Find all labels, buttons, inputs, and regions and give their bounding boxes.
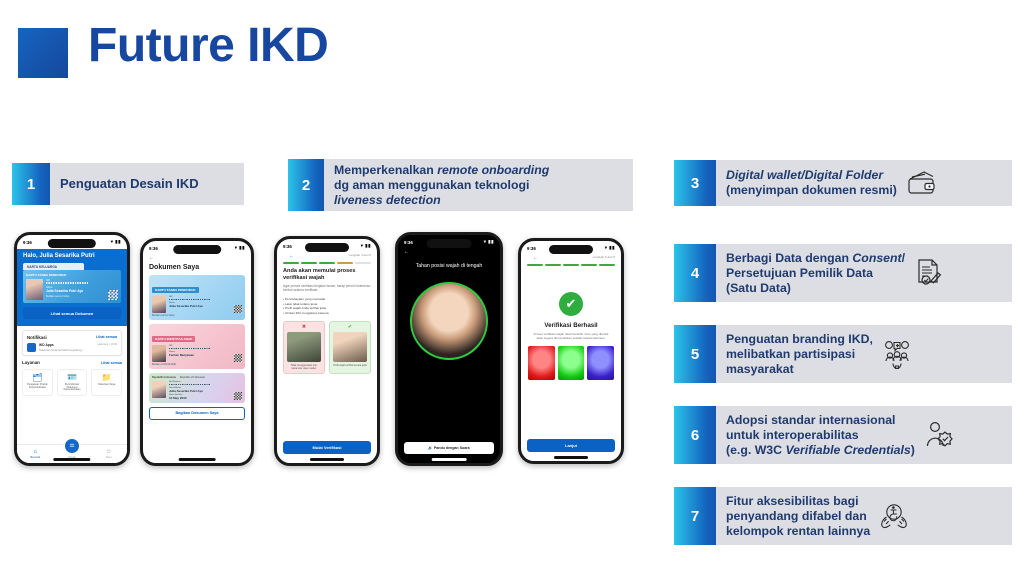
requirement-4: • Izinkan IKD mengakses kamera	[283, 311, 371, 316]
back-button[interactable]: ←	[283, 253, 300, 259]
ktp-card-header: KARTU TANDA PENDUDUK	[26, 273, 118, 277]
speaker-icon: 🔊	[428, 446, 432, 450]
document-card-passport[interactable]: Republik Indonesia Republic of Indonesia…	[149, 373, 245, 403]
step-indicator-label: Langkah 5 dari 5	[593, 255, 615, 261]
status-time: 9:36	[283, 244, 292, 249]
item-number-1: 1	[12, 163, 50, 205]
notification-card: Notifikasi Lihat semua IKD Apps sekarang…	[22, 330, 122, 356]
document-footer-2: Berlaku s/d 26-09-2036	[152, 364, 242, 366]
notification-item-time: sekarang • 10:30	[97, 343, 117, 346]
wallet-icon	[897, 170, 945, 196]
name-value-2: Farhan Mulyawan	[169, 353, 231, 357]
example-comparison: ✖ Tidak menggunakan topi, kacamata, atau…	[283, 321, 371, 374]
document-card-ktp[interactable]: KARTU TANDA PENDUDUK NIK Nama Julia Sesa…	[149, 275, 245, 320]
services-title: Layanan	[22, 360, 40, 365]
item-number-4: 4	[674, 244, 716, 302]
home-icon: ⌂	[17, 449, 54, 455]
service-label-2: Permohonan Dokumen Kependudukan	[60, 384, 85, 393]
step-2	[301, 262, 317, 264]
service-tile-1[interactable]: 🗂 Pengajuan Produk Kependudukan	[22, 369, 53, 396]
feature-item-1: 1 Penguatan Desain IKD	[12, 163, 244, 205]
document-photo-2	[152, 345, 166, 362]
item-text-1: Penguatan Desain IKD	[60, 176, 199, 192]
phone-mockup-verification-success: 9:36 ▾ ▮▮ ← Langkah 5 dari 5 ✔ Verifikas…	[518, 238, 624, 464]
notification-item-subtitle: Selamat! Anda berhasil bergabung ...	[39, 348, 117, 352]
step-5	[599, 264, 615, 266]
phone-mockup-documents: 9:36 ▾ ▮▮ ← Dokumen Saya KARTU TANDA PEN…	[140, 238, 254, 466]
verification-intro-subtitle: Agar proses verifikasi berjalan lancar, …	[277, 284, 377, 293]
documents-page-title: Dokumen Saya	[143, 261, 251, 275]
item-number-5: 5	[674, 325, 716, 383]
notch	[173, 245, 221, 254]
notification-title: Notifikasi	[27, 335, 47, 340]
home-indicator	[179, 458, 216, 460]
step-5	[355, 262, 371, 264]
cross-icon: ✖	[287, 325, 321, 330]
status-icons: ▾ ▮▮	[111, 239, 121, 245]
item-text-7: Fitur aksesibilitas bagipenyandang difab…	[726, 494, 870, 539]
share-documents-button[interactable]: Bagikan Dokumen Saya	[149, 407, 245, 420]
status-icons: ▾ ▮▮	[605, 245, 615, 251]
number-masked-3	[169, 384, 210, 386]
item-body-5: Penguatan branding IKD,melibatkan partis…	[716, 325, 1012, 383]
step-3	[319, 262, 335, 264]
success-title: Verifikasi Berhasil	[521, 322, 621, 329]
thumbnail-red	[528, 346, 555, 380]
bad-example-caption: Tidak menggunakan topi, kacamata, atau m…	[287, 364, 321, 370]
ktp-card[interactable]: KARTU TANDA PENDUDUK NIK Nama Julia Sesa…	[23, 270, 121, 303]
notification-item-title: IKD Apps	[39, 343, 54, 347]
documents-icon: 🗂	[25, 374, 50, 382]
step-2	[545, 264, 561, 266]
kartu-keluarga-tab[interactable]: KARTU KELUARGA	[23, 263, 84, 270]
good-example-photo	[333, 332, 367, 362]
folder-icon: 📁	[94, 374, 119, 382]
item-number-3: 3	[674, 160, 716, 206]
feature-item-7: 7 Fitur aksesibilitas bagipenyandang dif…	[674, 487, 1012, 545]
tab-label-beranda: Beranda	[17, 456, 54, 459]
notch	[549, 245, 593, 254]
document-photo-1	[152, 296, 166, 313]
check-icon: ✔	[333, 325, 367, 330]
notification-item[interactable]: IKD Apps sekarang • 10:30 Selamat! Anda …	[27, 343, 117, 352]
id-card-icon: 🪪	[60, 374, 85, 382]
status-time: 9:36	[23, 240, 32, 245]
document-card-header-3-en: Republic of Indonesia	[180, 376, 205, 379]
home-indicator	[310, 458, 344, 460]
scan-fab-button[interactable]: ⌗	[63, 437, 81, 455]
notification-see-all-link[interactable]: Lihat semua	[96, 335, 117, 339]
voice-guide-label: Pandu dengan Suara	[434, 446, 470, 450]
item-number-6: 6	[674, 406, 716, 464]
qr-code-icon[interactable]	[108, 290, 118, 300]
app-logo-icon	[27, 343, 36, 352]
tab-beranda[interactable]: ⌂ Beranda	[17, 449, 54, 459]
good-example-card: ✔ Profil wajah terlihat secara jelas	[329, 321, 371, 374]
item-body-3: Digital wallet/Digital Folder(menyimpan …	[716, 160, 1012, 206]
step-indicator-label: Langkah 4 dari 5	[349, 253, 371, 259]
document-card-header-3: Republik Indonesia	[152, 376, 176, 379]
home-indicator	[53, 458, 90, 460]
feature-item-5: 5 Penguatan branding IKD,melibatkan part…	[674, 325, 1012, 383]
document-sign-icon	[905, 258, 953, 288]
step-1	[527, 264, 543, 266]
good-example-caption: Profil wajah terlihat secara jelas	[333, 364, 367, 367]
thumbnail-blue	[587, 346, 614, 380]
item-body-1: Penguatan Desain IKD	[50, 163, 244, 205]
qr-code-icon-3[interactable]	[234, 392, 242, 400]
thumbnail-green	[558, 346, 585, 380]
item-number-7: 7	[674, 487, 716, 545]
status-icons: ▾ ▮▮	[361, 243, 371, 249]
face-capture-instruction: Tahan posisi wajah di tengah	[398, 255, 500, 269]
greeting-text: Halo, Julia Sesarika Putri	[23, 253, 121, 259]
nik-masked-1	[169, 299, 210, 301]
document-footer-1: Berlaku seumur hidup	[152, 315, 242, 317]
item-text-6: Adopsi standar internasionaluntuk intero…	[726, 413, 915, 458]
bad-example-photo	[287, 332, 321, 362]
bad-example-card: ✖ Tidak menggunakan topi, kacamata, atau…	[283, 321, 325, 374]
home-indicator	[432, 458, 467, 460]
step-3	[563, 264, 579, 266]
qr-code-icon-2[interactable]	[234, 354, 242, 362]
home-indicator	[554, 456, 588, 458]
item-body-2: Memperkenalkan remote onboardingdg aman …	[324, 159, 633, 211]
nik-masked-2	[169, 348, 210, 350]
service-label-3: Dokumen Saya	[94, 384, 119, 387]
progress-steps	[521, 261, 621, 266]
feature-item-3: 3 Digital wallet/Digital Folder(menyimpa…	[674, 160, 1012, 206]
services-see-all-link[interactable]: Lihat semua	[101, 361, 122, 365]
services-section: Layanan Lihat semua 🗂 Pengajuan Produk K…	[22, 360, 122, 396]
notch	[427, 239, 472, 248]
success-subtitle: Proses verifikasi wajah telah berakhir. …	[521, 329, 621, 341]
tab-akun[interactable]: ☺ Akun	[90, 449, 127, 459]
item-body-4: Berbagi Data dengan Consent/Persetujuan …	[716, 244, 1012, 302]
back-button[interactable]: ←	[527, 255, 544, 261]
status-icons: ▾ ▮▮	[235, 245, 245, 251]
status-time: 9:36	[527, 246, 536, 251]
service-tile-3[interactable]: 📁 Dokumen Saya	[91, 369, 122, 396]
name-value-1: Julia Sesarika Putri Ayu	[169, 304, 231, 308]
feature-item-2: 2 Memperkenalkan remote onboardingdg ama…	[288, 159, 633, 211]
requirements-list: • Pencahayaan yang memadai • Latar tidak…	[277, 293, 377, 316]
item-body-7: Fitur aksesibilitas bagipenyandang difab…	[716, 487, 1012, 545]
verification-intro-title: Anda akan memulai proses verifikasi waja…	[277, 264, 377, 284]
account-icon: ☺	[90, 449, 127, 455]
phone-mockup-verification-intro: 9:36 ▾ ▮▮ ← Langkah 4 dari 5 Anda akan m…	[274, 236, 380, 466]
nik-masked-value	[46, 282, 88, 284]
progress-steps	[277, 259, 377, 264]
start-verification-button[interactable]: Mulai Verifikasi	[283, 441, 371, 454]
document-card-header-1: KARTU TANDA PENDUDUK	[152, 287, 199, 293]
service-label-1: Pengajuan Produk Kependudukan	[25, 384, 50, 390]
tab-label-akun: Akun	[90, 456, 127, 459]
item-text-5: Penguatan branding IKD,melibatkan partis…	[726, 332, 873, 377]
phone-mockup-home: 9:36 ▾ ▮▮ Halo, Julia Sesarika Putri KAR…	[14, 232, 130, 466]
see-all-documents-button[interactable]: Lihat semua Dokumen	[23, 307, 121, 319]
item-text-3: Digital wallet/Digital Folder(menyimpan …	[726, 168, 897, 198]
verified-person-badge-icon	[915, 420, 963, 450]
item-text-4: Berbagi Data dengan Consent/Persetujuan …	[726, 251, 905, 296]
page-title: Future IKD	[88, 18, 328, 73]
voice-guide-button[interactable]: 🔊 Pandu dengan Suara	[404, 442, 494, 454]
document-card-header-2: KARTU IDENTITAS ANAK	[152, 336, 195, 342]
feature-item-6: 6 Adopsi standar internasionaluntuk inte…	[674, 406, 1012, 464]
document-photo-3	[152, 381, 166, 398]
phone-mockup-face-capture: 9:36 ▾ ▮▮ ← Tahan posisi wajah di tengah…	[395, 232, 503, 466]
notch	[48, 239, 96, 248]
step-1	[283, 262, 299, 264]
continue-button[interactable]: Lanjut	[527, 439, 615, 452]
home-header: Halo, Julia Sesarika Putri KARTU KELUARG…	[17, 249, 127, 326]
document-card-kia[interactable]: KARTU IDENTITAS ANAK NIK Nama Farhan Mul…	[149, 324, 245, 369]
feature-item-4: 4 Berbagi Data dengan Consent/Persetujua…	[674, 244, 1012, 302]
success-check-icon: ✔	[559, 292, 583, 316]
item-number-2: 2	[288, 159, 324, 211]
status-icons: ▾ ▮▮	[484, 239, 494, 245]
status-time: 9:36	[404, 240, 413, 245]
item-body-6: Adopsi standar internasionaluntuk intero…	[716, 406, 1012, 464]
item-text-2: Memperkenalkan remote onboardingdg aman …	[334, 163, 549, 208]
capture-thumbnails	[528, 346, 614, 380]
step-4	[581, 264, 597, 266]
community-thumbs-up-icon	[873, 339, 921, 369]
service-tile-2[interactable]: 🪪 Permohonan Dokumen Kependudukan	[57, 369, 88, 396]
validity-value-3: 10 May 2030	[169, 396, 231, 400]
face-alignment-ring	[410, 282, 488, 360]
name-value-3: Julia Sesarika Putri Ayu	[169, 389, 231, 393]
ktp-photo	[26, 279, 43, 300]
status-time: 9:36	[149, 246, 158, 251]
ktp-card-footer: Berlaku seumur hidup	[46, 295, 105, 298]
brand-mark	[18, 28, 68, 78]
step-4	[337, 262, 353, 264]
notch	[305, 243, 349, 252]
accessibility-hands-icon	[870, 501, 918, 531]
name-value: Julia Sesarika Putri Ayu	[46, 289, 105, 293]
qr-code-icon-1[interactable]	[234, 305, 242, 313]
